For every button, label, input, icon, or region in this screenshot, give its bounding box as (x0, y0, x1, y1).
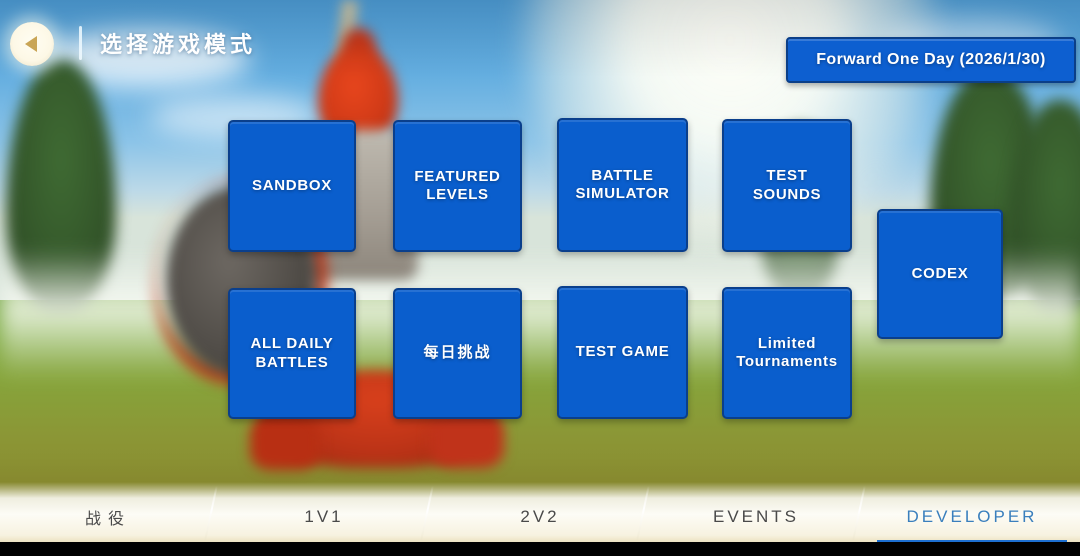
mode-button-label: CODEX (906, 265, 975, 283)
nav-tab-label: 2V2 (520, 507, 559, 527)
nav-tab-战役[interactable]: 战役 (0, 482, 216, 544)
nav-tab-label: 1V1 (304, 507, 343, 527)
mode-button-label: LimitedTournaments (730, 335, 844, 372)
nav-tab-events[interactable]: EVENTS (648, 482, 864, 544)
mode-button-label: ALL DAILYBATTLES (245, 335, 340, 372)
mode-button-label: TEST GAME (570, 343, 676, 361)
mode-button-limited-tournaments[interactable]: LimitedTournaments (722, 287, 852, 419)
nav-tab-label: 战役 (85, 505, 131, 529)
mode-button-test-sounds[interactable]: TESTSOUNDS (722, 119, 852, 252)
mode-button-label: 每日挑战 (417, 344, 497, 362)
bottom-tab-bar: 战役1V12V2EVENTSDEVELOPER (0, 482, 1080, 544)
system-bottom-bar (0, 542, 1080, 556)
game-mode-select-screen: 选择游戏模式 Forward One Day (2026/1/30) SANDB… (0, 0, 1080, 556)
mode-button-grid: SANDBOXFEATUREDLEVELSBATTLESIMULATORTEST… (0, 0, 1080, 556)
mode-button-label: TESTSOUNDS (747, 167, 827, 204)
mode-button-test-game[interactable]: TEST GAME (557, 286, 688, 419)
mode-button-每日挑战[interactable]: 每日挑战 (393, 288, 522, 419)
mode-button-label: BATTLESIMULATOR (569, 167, 675, 204)
mode-button-label: SANDBOX (246, 177, 338, 195)
mode-button-codex[interactable]: CODEX (877, 209, 1003, 339)
mode-button-all-daily-battles[interactable]: ALL DAILYBATTLES (228, 288, 356, 419)
mode-button-battle-simulator[interactable]: BATTLESIMULATOR (557, 118, 688, 252)
mode-button-label: FEATUREDLEVELS (408, 168, 506, 205)
mode-button-sandbox[interactable]: SANDBOX (228, 120, 356, 252)
nav-tab-2v2[interactable]: 2V2 (432, 482, 648, 544)
mode-button-featured-levels[interactable]: FEATUREDLEVELS (393, 120, 522, 252)
nav-tab-1v1[interactable]: 1V1 (216, 482, 432, 544)
nav-tab-developer[interactable]: DEVELOPER (864, 482, 1080, 544)
nav-tab-label: EVENTS (713, 507, 799, 527)
nav-tab-label: DEVELOPER (907, 507, 1038, 527)
